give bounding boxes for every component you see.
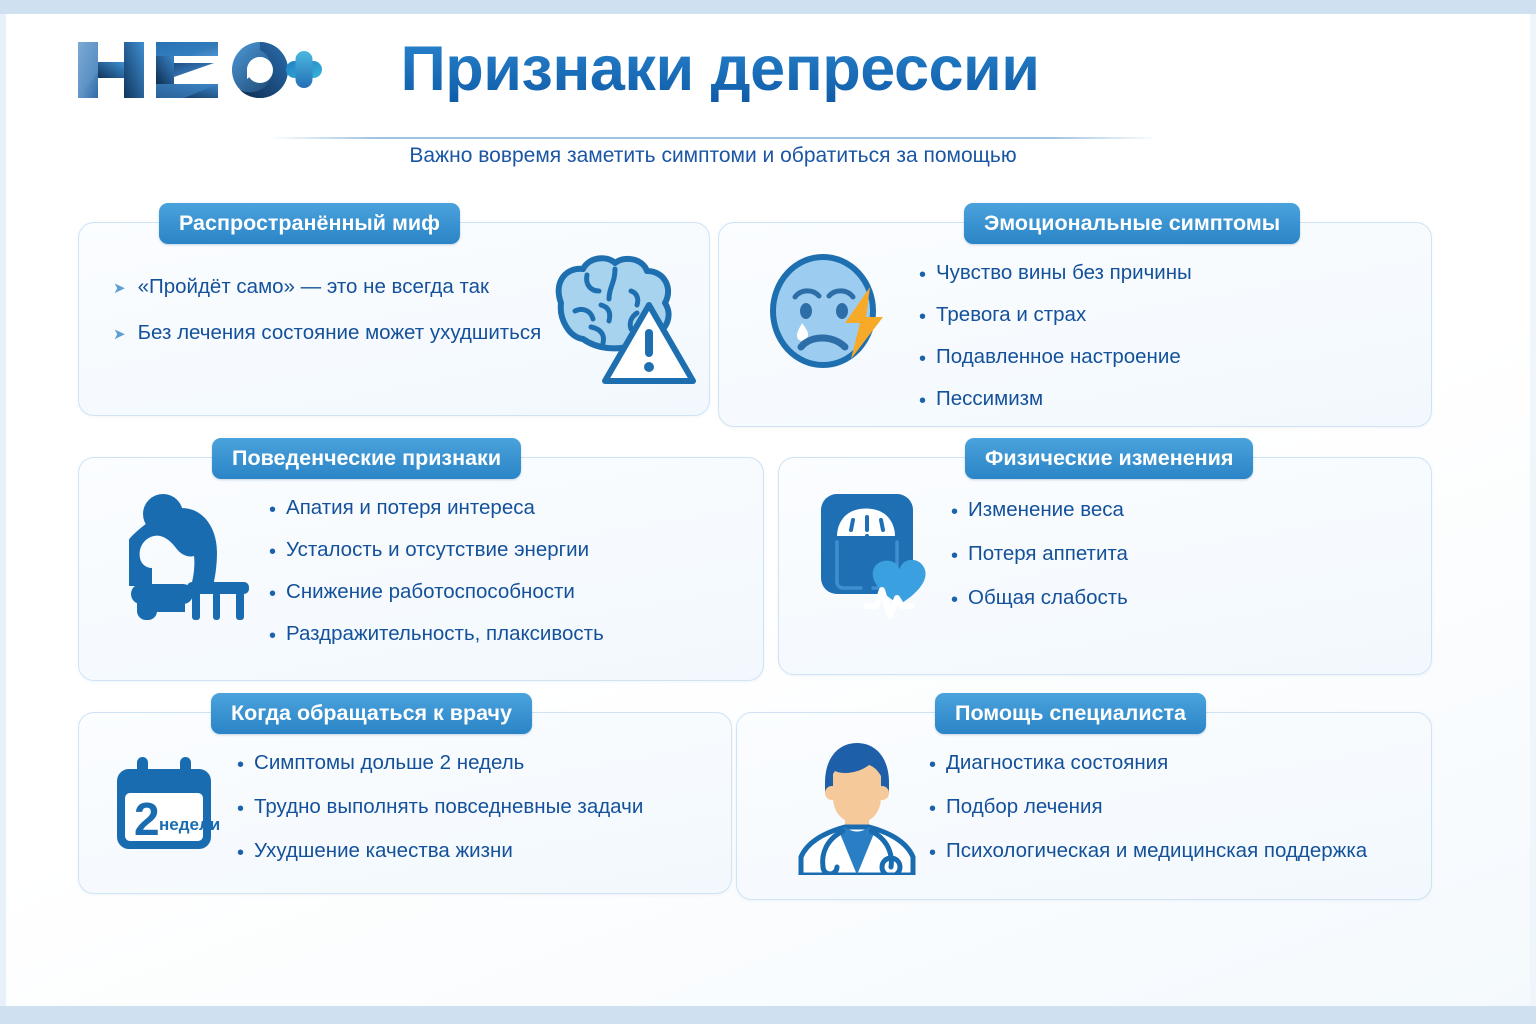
page-top-band: [0, 0, 1536, 14]
brand-logo: [72, 32, 322, 108]
dot-bullet-icon: •: [237, 799, 244, 819]
list-item: • Общая слабость: [951, 586, 1128, 610]
doctor-icon: [787, 735, 927, 880]
calendar-icon: 2 недели: [107, 755, 223, 860]
list-item: • Пессимизм: [919, 387, 1192, 411]
dot-bullet-icon: •: [951, 502, 958, 522]
dot-bullet-icon: •: [929, 843, 936, 863]
list-item-label: Диагностика состояния: [946, 751, 1168, 775]
list-item: • Изменение веса: [951, 498, 1128, 522]
weight-scale-heart-icon: [815, 488, 945, 625]
list-item: • Тревога и страх: [919, 303, 1192, 327]
card-emotional[interactable]: Эмоциональные симптомы • Чувство вины бе…: [718, 222, 1432, 427]
card-when-list: • Симптомы дольше 2 недель • Трудно выпо…: [237, 751, 643, 863]
card-emotional-title: Эмоциональные симптомы: [964, 203, 1300, 244]
infographic-page: Признаки депрессии Важно вовремя заметит…: [0, 0, 1536, 1024]
brain-warning-icon: [531, 251, 701, 396]
card-help[interactable]: Помощь специалиста: [736, 712, 1432, 900]
list-item: • Потеря аппетита: [951, 542, 1128, 566]
dot-bullet-icon: •: [919, 307, 926, 327]
title-divider: [268, 137, 1158, 139]
dot-bullet-icon: •: [929, 799, 936, 819]
list-item-label: Усталость и отсутствие энергии: [286, 538, 589, 562]
card-behavior-list: • Апатия и потеря интереса • Усталость и…: [269, 496, 604, 646]
card-when[interactable]: Когда обращаться к врачу 2 недели • Симп…: [78, 712, 732, 894]
list-item: • Трудно выполнять повседневные задачи: [237, 795, 643, 819]
list-item: • Диагностика состояния: [929, 751, 1367, 775]
card-emotional-list: • Чувство вины без причины • Тревога и с…: [919, 261, 1192, 411]
list-item-label: Подбор лечения: [946, 795, 1103, 819]
slumped-person-icon: [129, 486, 259, 626]
list-item-label: Тревога и страх: [936, 303, 1086, 327]
card-when-title: Когда обращаться к врачу: [211, 693, 532, 734]
list-item: • Чувство вины без причины: [919, 261, 1192, 285]
list-item: • Подбор лечения: [929, 795, 1367, 819]
list-item-label: Трудно выполнять повседневные задачи: [254, 795, 643, 819]
card-help-title: Помощь специалиста: [935, 693, 1206, 734]
calendar-word: недели: [159, 815, 220, 834]
list-item-label: Общая слабость: [968, 586, 1128, 610]
list-item-label: Психологическая и медицинская поддержка: [946, 839, 1367, 863]
arrow-bullet-icon: ➤: [113, 281, 126, 296]
list-item-label: Апатия и потеря интереса: [286, 496, 535, 520]
dot-bullet-icon: •: [951, 590, 958, 610]
dot-bullet-icon: •: [237, 755, 244, 775]
list-item: ➤ Без лечения состояние может ухудшиться: [113, 321, 541, 345]
dot-bullet-icon: •: [919, 349, 926, 369]
list-item-label: Потеря аппетита: [968, 542, 1128, 566]
list-item-label: Без лечения состояние может ухудшиться: [138, 321, 542, 345]
list-item-label: Пессимизм: [936, 387, 1043, 411]
dot-bullet-icon: •: [929, 755, 936, 775]
list-item: • Апатия и потеря интереса: [269, 496, 604, 520]
list-item: • Симптомы дольше 2 недель: [237, 751, 643, 775]
dot-bullet-icon: •: [919, 265, 926, 285]
list-item-label: «Пройдёт само» — это не всегда так: [138, 275, 489, 299]
dot-bullet-icon: •: [269, 542, 276, 562]
list-item-label: Симптомы дольше 2 недель: [254, 751, 524, 775]
dot-bullet-icon: •: [269, 626, 276, 646]
card-physical-list: • Изменение веса • Потеря аппетита • Общ…: [951, 498, 1128, 610]
list-item-label: Ухудшение качества жизни: [254, 839, 513, 863]
sad-face-lightning-icon: [767, 249, 887, 379]
card-help-list: • Диагностика состояния • Подбор лечения…: [929, 751, 1367, 863]
calendar-number: 2: [134, 793, 160, 845]
list-item-label: Чувство вины без причины: [936, 261, 1192, 285]
list-item: • Психологическая и медицинская поддержк…: [929, 839, 1367, 863]
page-bottom-band: [0, 1006, 1536, 1024]
card-physical-title: Физические изменения: [965, 438, 1253, 479]
list-item-label: Снижение работоспособности: [286, 580, 575, 604]
header: Признаки депрессии Важно вовремя заметит…: [0, 14, 1536, 174]
list-item-label: Подавленное настроение: [936, 345, 1181, 369]
card-behavior-title: Поведенческие признаки: [212, 438, 521, 479]
dot-bullet-icon: •: [269, 500, 276, 520]
page-title: Признаки депрессии: [340, 36, 1100, 102]
list-item: • Подавленное настроение: [919, 345, 1192, 369]
list-item: • Раздражительность, плаксивость: [269, 622, 604, 646]
list-item: • Снижение работоспособности: [269, 580, 604, 604]
list-item: • Ухудшение качества жизни: [237, 839, 643, 863]
card-physical[interactable]: Физические изменения: [778, 457, 1432, 675]
list-item: • Усталость и отсутствие энергии: [269, 538, 604, 562]
arrow-bullet-icon: ➤: [113, 327, 126, 342]
card-behavior[interactable]: Поведенческие признаки: [78, 457, 764, 681]
card-myth-list: ➤ «Пройдёт само» — это не всегда так ➤ Б…: [113, 275, 541, 345]
dot-bullet-icon: •: [919, 391, 926, 411]
card-myth-title: Распространённый миф: [159, 203, 460, 244]
card-myth[interactable]: Распространённый миф ➤ «Пройдёт само» — …: [78, 222, 710, 416]
dot-bullet-icon: •: [237, 843, 244, 863]
list-item-label: Раздражительность, плаксивость: [286, 622, 604, 646]
list-item: ➤ «Пройдёт само» — это не всегда так: [113, 275, 541, 299]
dot-bullet-icon: •: [269, 584, 276, 604]
page-subtitle: Важно вовремя заметить симптоми и обрати…: [268, 144, 1158, 168]
dot-bullet-icon: •: [951, 546, 958, 566]
list-item-label: Изменение веса: [968, 498, 1124, 522]
